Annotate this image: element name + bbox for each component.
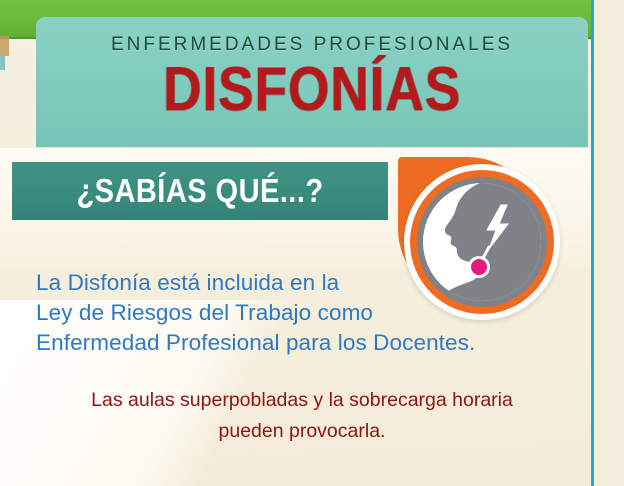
- secondary-copy-line-1: Las aulas superpobladas y la sobrecarga …: [22, 385, 582, 416]
- did-you-know-banner: ¿SABÍAS QUÉ...?: [12, 162, 388, 220]
- primary-copy-line-2: Ley de Riesgos del Trabajo como: [36, 298, 556, 328]
- infographic-poster: ENFERMEDADES PROFESIONALES DISFONÍAS ¿SA…: [0, 0, 624, 486]
- secondary-copy: Las aulas superpobladas y la sobrecarga …: [22, 385, 582, 447]
- header-kicker: ENFERMEDADES PROFESIONALES: [36, 34, 588, 56]
- did-you-know-label: ¿SABÍAS QUÉ...?: [35, 172, 366, 210]
- right-blue-rule: [591, 0, 594, 486]
- primary-copy-line-3: Enfermedad Profesional para los Docentes…: [36, 328, 556, 358]
- primary-copy-line-1: La Disfonía está incluida en la: [36, 268, 556, 298]
- header-panel: ENFERMEDADES PROFESIONALES DISFONÍAS: [36, 17, 588, 147]
- page-title: DISFONÍAS: [75, 59, 550, 121]
- left-tan-strip: [0, 36, 9, 56]
- primary-copy: La Disfonía está incluida en la Ley de R…: [36, 268, 556, 358]
- left-teal-strip: [0, 56, 5, 70]
- right-margin-panel: [594, 0, 624, 486]
- secondary-copy-line-2: pueden provocarla.: [22, 416, 582, 447]
